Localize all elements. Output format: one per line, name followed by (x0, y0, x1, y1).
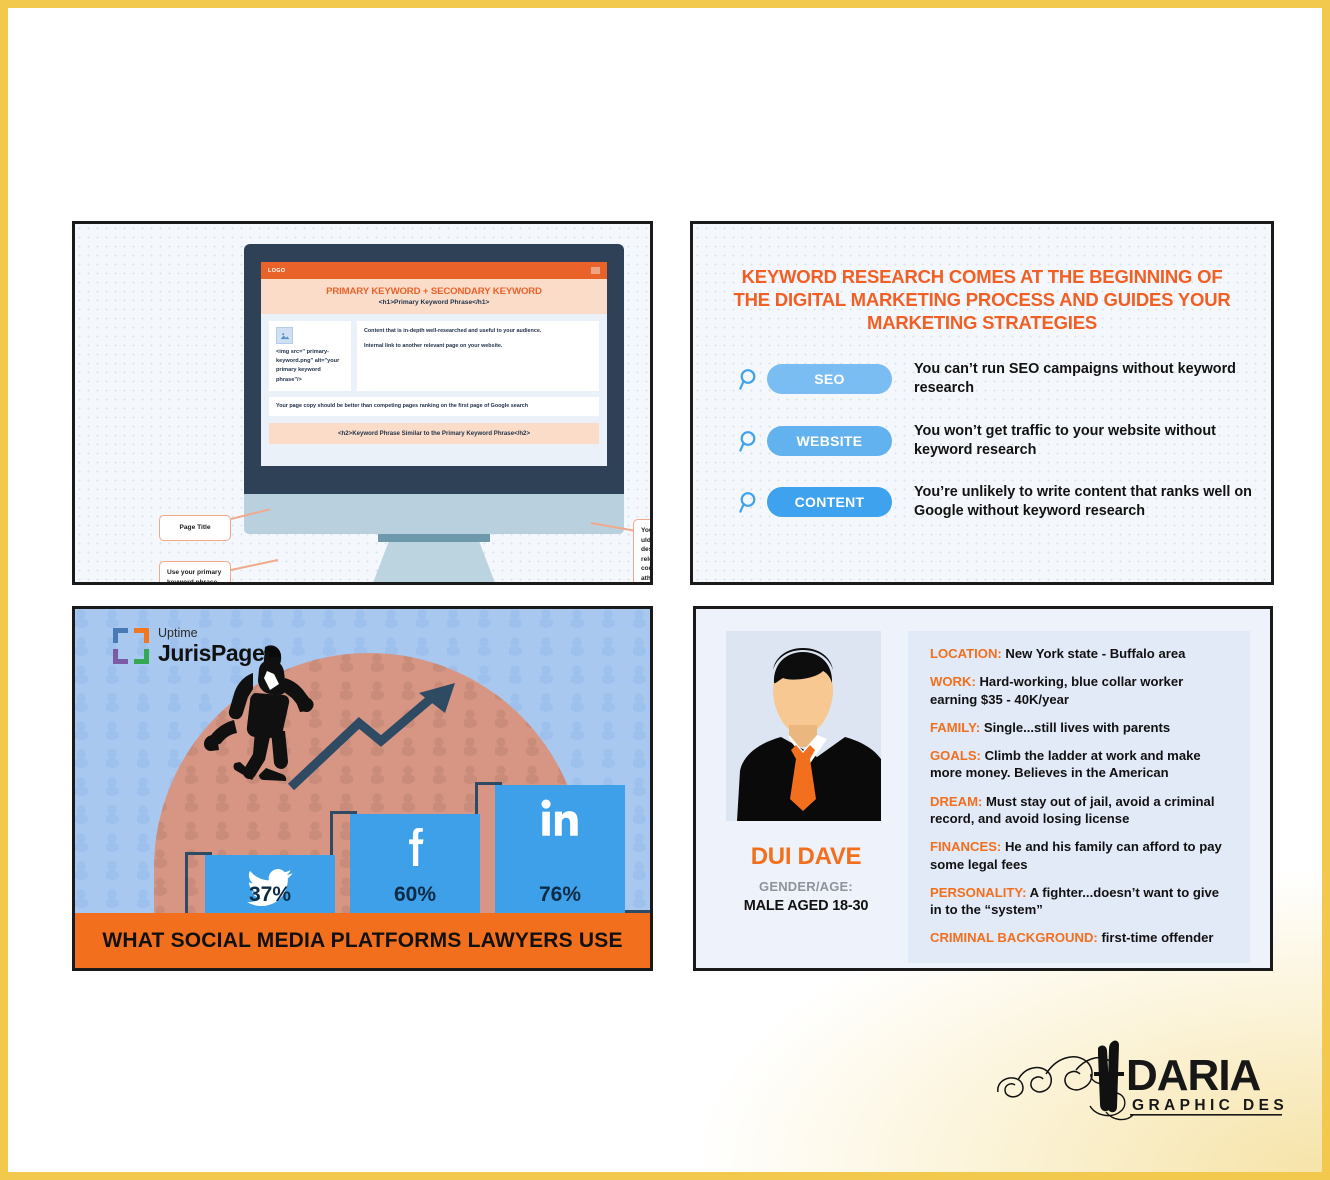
signature-subtitle: GRAPHIC DESIGNER (1132, 1097, 1284, 1114)
persona-gender-age-value: MALE AGED 18-30 (726, 898, 886, 914)
persona-value: Single...still lives with parents (984, 720, 1170, 735)
callout-header: Your header sho-uld accurately describe … (633, 519, 653, 585)
persona-key: FAMILY: (930, 720, 980, 735)
image-placeholder-icon (276, 327, 293, 344)
running-businessman-illustration (193, 635, 328, 785)
persona-name: DUI DAVE (726, 843, 886, 871)
monitor-chin (244, 494, 624, 534)
persona-avatar (726, 631, 881, 821)
page-copy-block: Your page copy should be better than com… (269, 397, 599, 416)
page-canvas: LOGO PRIMARY KEYWORD + SECONDARY KEYWORD… (0, 0, 1330, 1180)
designer-signature: DARIA GRAPHIC DESIGNER (994, 1032, 1284, 1128)
persona-key: PERSONALITY: (930, 885, 1027, 900)
keyword-desc-seo: You can’t run SEO campaigns without keyw… (914, 360, 1271, 397)
callout-page-title: Page Title (159, 515, 231, 541)
panel-seo-page-anatomy: LOGO PRIMARY KEYWORD + SECONDARY KEYWORD… (72, 221, 653, 585)
bar-label-facebook: 60% (350, 883, 480, 907)
persona-layout: DUI DAVE GENDER/AGE: MALE AGED 18-30 LOC… (696, 609, 1270, 963)
panel-persona-card: DUI DAVE GENDER/AGE: MALE AGED 18-30 LOC… (693, 606, 1273, 971)
search-icon (733, 429, 767, 453)
avatar-illustration (726, 631, 881, 821)
monitor-screen: LOGO PRIMARY KEYWORD + SECONDARY KEYWORD… (261, 262, 607, 466)
persona-item-family: FAMILY: Single...still lives with parent… (930, 719, 1232, 736)
persona-key: FINANCES: (930, 839, 1001, 854)
panel-social-media-chart: Uptime JurisPage 37% 60% (72, 606, 653, 971)
body-line-2: Internal link to another relevant page o… (364, 342, 592, 351)
pill-website[interactable]: WEBSITE (767, 426, 892, 456)
keyword-desc-website: You won’t get traffic to your website wi… (914, 422, 1271, 459)
persona-item-dream: DREAM: Must stay out of jail, avoid a cr… (930, 793, 1232, 828)
keyword-row-content: CONTENT You’re unlikely to write content… (733, 483, 1271, 520)
leader-line-alt (231, 559, 278, 571)
body-copy-card: Content that is in-depth well-researched… (357, 321, 599, 391)
bar-label-linkedin: 76% (495, 883, 625, 907)
bar-chart: 37% 60% 76% (75, 653, 650, 913)
chart-title: WHAT SOCIAL MEDIA PLATFORMS LAWYERS USE (102, 929, 622, 953)
monitor-neck (378, 534, 490, 542)
persona-key: DREAM: (930, 794, 982, 809)
img-code-snippet: <img src=" primary-keyword.png" alt="you… (276, 348, 344, 385)
persona-item-personality: PERSONALITY: A fighter...doesn’t want to… (930, 884, 1232, 919)
keyword-desc-content: You’re unlikely to write content that ra… (914, 483, 1271, 520)
facebook-icon (350, 828, 480, 871)
body-line-1: Content that is in-depth well-researched… (364, 327, 592, 336)
bar-facebook: 60% (350, 814, 480, 913)
bar-label-twitter: 37% (205, 883, 335, 907)
keyword-row-seo: SEO You can’t run SEO campaigns without … (733, 360, 1271, 397)
image-card: <img src=" primary-keyword.png" alt="you… (269, 321, 351, 391)
site-hero: PRIMARY KEYWORD + SECONDARY KEYWORD <h1>… (261, 279, 607, 314)
pill-content[interactable]: CONTENT (767, 487, 892, 517)
monitor-stand (371, 542, 497, 585)
persona-details-list: LOCATION: New York state - Buffalo area … (908, 631, 1250, 963)
panel-keyword-research: KEYWORD RESEARCH COMES AT THE BEGINNING … (690, 221, 1274, 585)
persona-value: first-time offender (1101, 930, 1213, 945)
keyword-rows: SEO You can’t run SEO campaigns without … (693, 334, 1271, 520)
persona-key: WORK: (930, 674, 976, 689)
site-content-row: <img src=" primary-keyword.png" alt="you… (261, 314, 607, 391)
search-icon (733, 367, 767, 391)
persona-left-column: DUI DAVE GENDER/AGE: MALE AGED 18-30 (726, 631, 886, 963)
bar-twitter: 37% (205, 855, 335, 913)
keyword-panel-title: KEYWORD RESEARCH COMES AT THE BEGINNING … (693, 224, 1271, 334)
hamburger-icon[interactable] (591, 267, 600, 274)
persona-item-finances: FINANCES: He and his family can afford t… (930, 838, 1232, 873)
keyword-row-website: WEBSITE You won’t get traffic to your we… (733, 422, 1271, 459)
persona-key: GOALS: (930, 748, 981, 763)
site-topbar: LOGO (261, 262, 607, 279)
bar-linkedin: 76% (495, 785, 625, 913)
persona-key: LOCATION: (930, 646, 1002, 661)
persona-item-work: WORK: Hard-working, blue collar worker e… (930, 673, 1232, 708)
hero-h1-tag: <h1>Primary Keyword Phrase</h1> (267, 299, 601, 306)
persona-item-goals: GOALS: Climb the ladder at work and make… (930, 747, 1232, 782)
monitor-body: LOGO PRIMARY KEYWORD + SECONDARY KEYWORD… (244, 244, 624, 494)
persona-key: CRIMINAL BACKGROUND: (930, 930, 1098, 945)
pill-seo[interactable]: SEO (767, 364, 892, 394)
linkedin-icon (495, 799, 625, 842)
h2-block: <h2>Keyword Phrase Similar to the Primar… (269, 423, 599, 444)
chart-title-band: WHAT SOCIAL MEDIA PLATFORMS LAWYERS USE (75, 913, 650, 968)
persona-item-location: LOCATION: New York state - Buffalo area (930, 645, 1232, 662)
persona-gender-age-label: GENDER/AGE: (726, 879, 886, 894)
hero-keyword: PRIMARY KEYWORD + SECONDARY KEYWORD (267, 286, 601, 297)
persona-item-criminal-background: CRIMINAL BACKGROUND: first-time offender (930, 929, 1232, 946)
signature-name: DARIA (1126, 1051, 1261, 1100)
search-icon (733, 490, 767, 514)
persona-value: New York state - Buffalo area (1005, 646, 1185, 661)
callout-alt-attribute: Use your primary keyword phrase in your … (159, 561, 231, 585)
site-logo: LOGO (268, 268, 285, 274)
